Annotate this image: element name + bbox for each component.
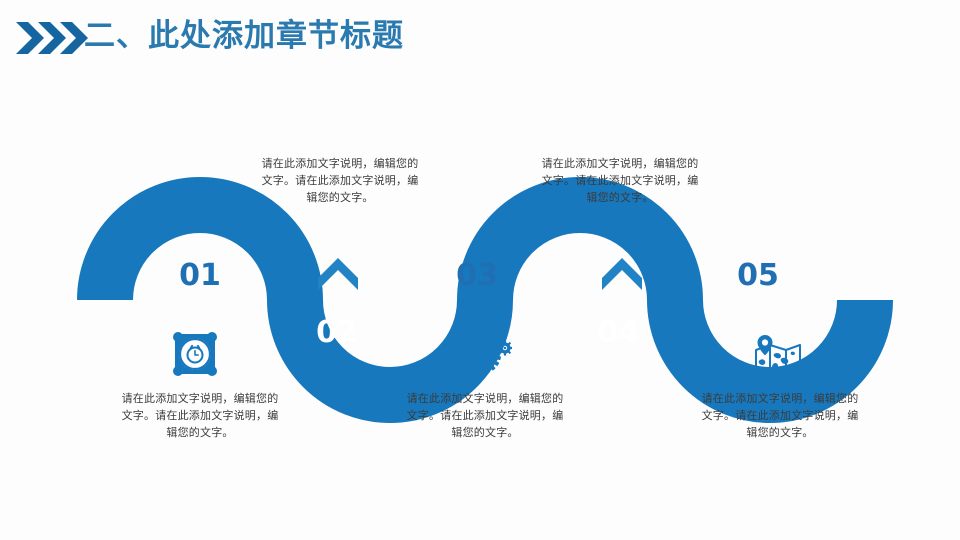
gears-icon: [452, 330, 504, 382]
step-number-03: 03: [437, 259, 517, 293]
slide-header: 二、此处添加章节标题: [0, 0, 960, 80]
map-location-icon: [748, 330, 800, 382]
alarm-clock-icon: [169, 328, 221, 380]
page-title: 二、此处添加章节标题: [84, 13, 404, 59]
step-number-01: 01: [160, 259, 240, 293]
chevron-up-icon: [316, 256, 360, 292]
chevron-up-icon: [600, 256, 644, 292]
step-number-02: 02: [297, 316, 377, 350]
step-description-01: 请在此添加文字说明，编辑您的文字。请在此添加文字说明，编辑您的文字。: [119, 390, 281, 441]
step-description-02: 请在此添加文字说明，编辑您的文字。请在此添加文字说明，编辑您的文字。: [259, 155, 421, 206]
step-description-04: 请在此添加文字说明，编辑您的文字。请在此添加文字说明，编辑您的文字。: [539, 155, 701, 206]
triple-chevron-right-icon: [14, 18, 90, 58]
step-number-05: 05: [718, 259, 798, 293]
step-number-04: 04: [578, 316, 658, 350]
step-description-03: 请在此添加文字说明，编辑您的文字。请在此添加文字说明，编辑您的文字。: [404, 390, 566, 441]
step-description-05: 请在此添加文字说明，编辑您的文字。请在此添加文字说明，编辑您的文字。: [699, 390, 861, 441]
